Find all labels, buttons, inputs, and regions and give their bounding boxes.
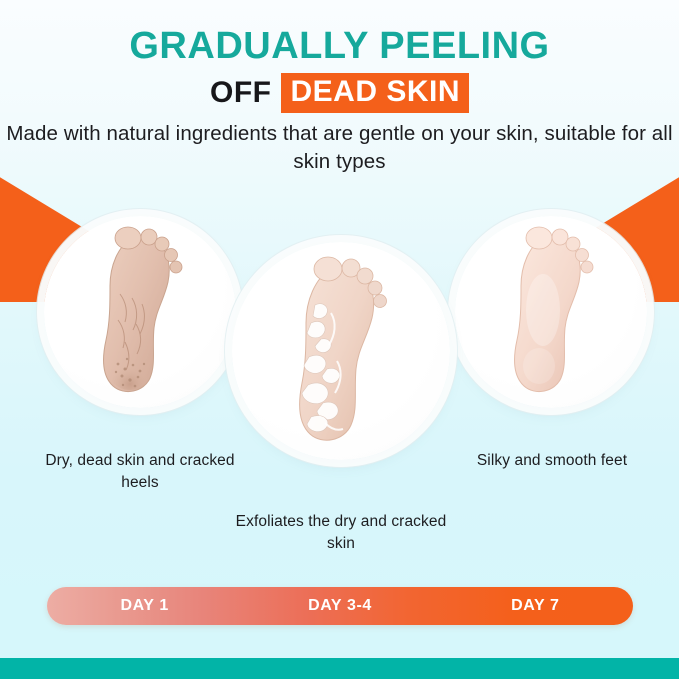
infographic-poster: GRADUALLY PEELING OFF DEAD SKIN Made wit… — [0, 0, 679, 679]
timeline-label-day1: DAY 1 — [47, 597, 242, 615]
headline-highlight-word: DEAD SKIN — [281, 73, 469, 113]
timeline-label-day7: DAY 7 — [438, 597, 633, 615]
headline-block: GRADUALLY PEELING OFF DEAD SKIN — [0, 26, 679, 113]
step-image-circle-day3-4 — [232, 242, 450, 460]
subtitle-text: Made with natural ingredients that are g… — [0, 120, 679, 175]
headline-off-word: OFF — [210, 76, 272, 110]
smooth-foot-icon — [455, 216, 647, 408]
headline-line-1: GRADUALLY PEELING — [0, 26, 679, 67]
dry-cracked-foot-icon — [44, 216, 236, 408]
bottom-accent-strip — [0, 658, 679, 679]
timeline-bar: DAY 1 DAY 3-4 DAY 7 — [47, 587, 633, 625]
caption-day3-4: Exfoliates the dry and cracked skin — [228, 511, 454, 555]
headline-line-2: OFF DEAD SKIN — [0, 73, 679, 113]
timeline-label-day3-4: DAY 3-4 — [242, 597, 437, 615]
step-image-circle-day1 — [44, 216, 236, 408]
caption-day7: Silky and smooth feet — [452, 450, 652, 472]
peeling-foot-icon — [232, 242, 450, 460]
step-image-circle-day7 — [455, 216, 647, 408]
caption-day1: Dry, dead skin and cracked heels — [30, 450, 250, 494]
